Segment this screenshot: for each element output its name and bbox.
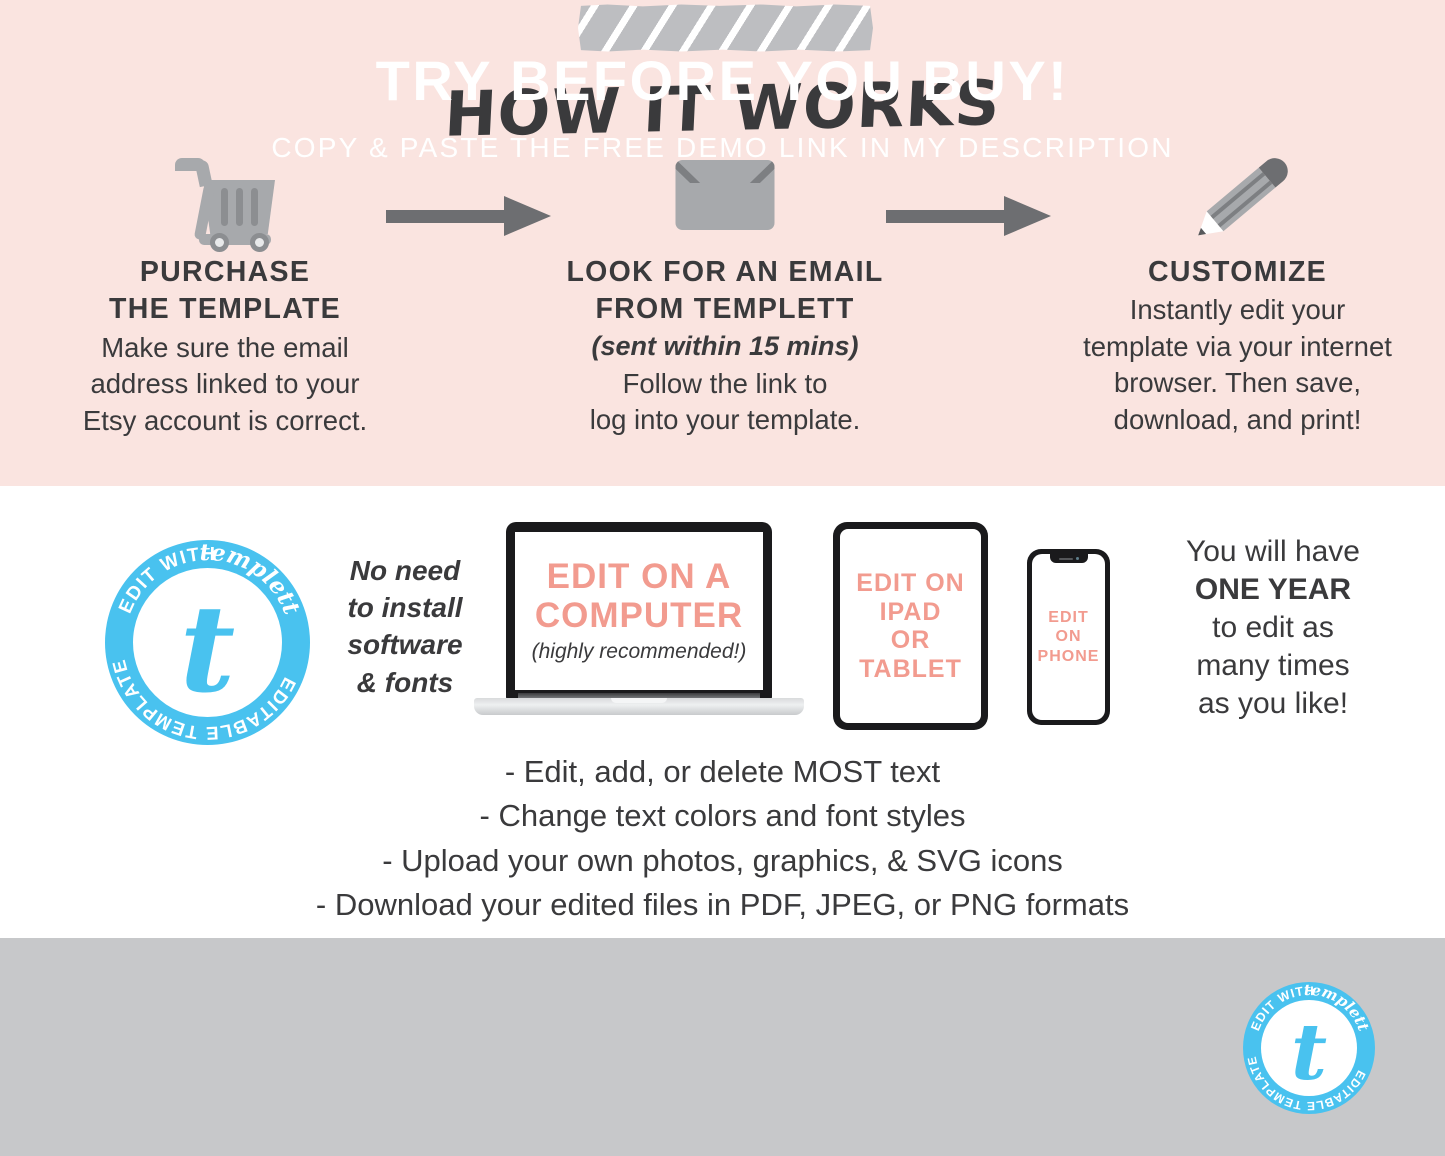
one-year-text: You will have ONE YEAR to edit as many t… [1117,533,1429,723]
laptop-line: COMPUTER [535,597,743,636]
phone-screen: EDIT ON PHONE [1032,554,1105,720]
arrow-right-icon [386,196,551,236]
step-heading: CUSTOMIZE [1065,254,1410,291]
phone-line: EDIT [1048,608,1088,627]
no-need-line: software [330,626,480,663]
phone-line: PHONE [1038,647,1100,666]
laptop-mockup: EDIT ON A COMPUTER (highly recommended!) [474,522,804,730]
washi-tape-icon [578,4,873,52]
step-body: Make sure the email address linked to yo… [60,330,390,440]
step-heading: PURCHASE THE TEMPLATE [60,254,390,329]
list-item: - Change text colors and font styles [0,794,1445,838]
no-need-line: No need [330,552,480,589]
step-heading-line: PURCHASE [60,254,390,291]
one-year-line: You will have [1117,533,1429,571]
step-body-line: log into your template. [545,402,905,439]
step-body: Instantly edit your template via your in… [1065,292,1410,438]
list-item: - Edit, add, or delete MOST text [0,750,1445,794]
phone-mockup: EDIT ON PHONE [1027,549,1110,725]
step-italic-note: (sent within 15 mins) [545,329,905,365]
tablet-mockup: EDIT ON IPAD OR TABLET [833,522,988,730]
try-before-you-buy-footer [0,938,1445,1156]
step-body-line: browser. Then save, [1065,365,1410,402]
one-year-line: to edit as [1117,609,1429,647]
step-purchase: PURCHASE THE TEMPLATE Make sure the emai… [60,148,390,439]
step-body-line: Make sure the email [60,330,390,367]
laptop-screen: EDIT ON A COMPUTER (highly recommended!) [515,532,763,690]
phone-notch-icon [1050,554,1088,563]
tablet-line: OR [891,626,931,655]
laptop-line: EDIT ON A [547,558,732,597]
no-need-text: No need to install software & fonts [330,552,480,701]
step-body-line: Follow the link to [545,366,905,403]
infographic-page: HOW IT WORKS [0,0,1445,1156]
templett-badge: EDIT WITH templett EDITABLE TEMPLATE t [105,540,310,745]
one-year-line: as you like! [1117,685,1429,723]
step-body-line: download, and print! [1065,402,1410,439]
step-body-line: Instantly edit your [1065,292,1410,329]
tablet-screen: EDIT ON IPAD OR TABLET [840,529,981,723]
laptop-subtitle: (highly recommended!) [532,640,747,664]
list-item: - Upload your own photos, graphics, & SV… [0,839,1445,883]
step-heading: LOOK FOR AN EMAIL FROM TEMPLETT [545,254,905,329]
badge-letter-t: t [105,590,310,710]
one-year-line: many times [1117,647,1429,685]
step-heading-line: THE TEMPLATE [60,291,390,328]
steps-row: PURCHASE THE TEMPLATE Make sure the emai… [0,148,1445,468]
step-body-line: address linked to your [60,366,390,403]
arrow-right-icon [886,196,1051,236]
step-body-line: template via your internet [1065,329,1410,366]
badge-letter-t: t [1243,1014,1375,1092]
footer-title: TRY BEFORE YOU BUY! [0,48,1445,113]
step-body: Follow the link to log into your templat… [545,366,905,439]
no-need-line: & fonts [330,664,480,701]
templett-badge-footer: EDIT WITH templett EDITABLE TEMPLATE t [1243,982,1375,1114]
list-item: - Download your edited files in PDF, JPE… [0,883,1445,927]
tablet-line: EDIT ON [856,569,964,598]
pencil-glyph-icon [1180,156,1296,248]
step-heading-line: LOOK FOR AN EMAIL [545,254,905,291]
laptop-base [474,698,804,715]
step-heading-line: FROM TEMPLETT [545,291,905,328]
one-year-emphasis: ONE YEAR [1195,573,1351,606]
step-heading-line: CUSTOMIZE [1065,254,1410,291]
tablet-line: TABLET [859,655,962,684]
step-customize: CUSTOMIZE Instantly edit your template v… [1065,148,1410,439]
phone-line: ON [1056,627,1082,646]
step-body-line: Etsy account is correct. [60,403,390,440]
feature-bullet-list: - Edit, add, or delete MOST text - Chang… [0,750,1445,927]
step-look-for-email: LOOK FOR AN EMAIL FROM TEMPLETT (sent wi… [545,148,905,439]
no-need-line: to install [330,589,480,626]
tablet-line: IPAD [880,598,942,627]
footer-subtitle: COPY & PASTE THE FREE DEMO LINK IN MY DE… [0,132,1445,164]
